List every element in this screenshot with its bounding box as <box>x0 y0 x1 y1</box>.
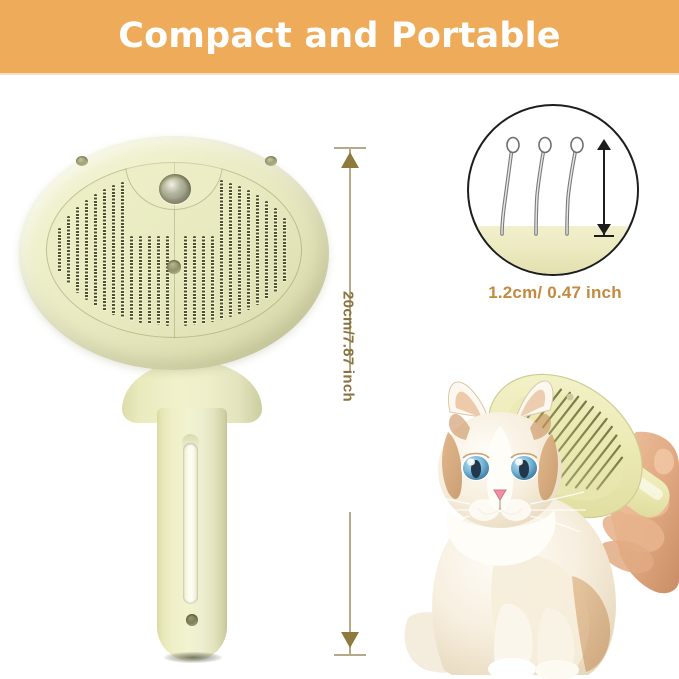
bristle-row <box>265 201 268 299</box>
product-illustration: DC-5V <box>14 118 334 663</box>
power-button[interactable] <box>159 174 191 204</box>
bristle-row <box>247 190 250 310</box>
pin-dimension-label: 1.2cm/ 0.47 inch <box>455 283 655 303</box>
bristle-row <box>220 180 223 320</box>
pin-detail-inset <box>467 104 639 276</box>
bristle-row <box>121 182 124 318</box>
cat-photo-artwork <box>400 370 679 679</box>
bristle-row <box>274 208 277 291</box>
page-title: Compact and Portable <box>118 19 560 54</box>
bristle-row <box>193 236 196 325</box>
bristle-row <box>202 236 205 324</box>
bristle-row <box>283 218 286 282</box>
bristle-row <box>112 185 115 314</box>
bristle-row <box>256 195 259 305</box>
bristle-row <box>85 200 88 301</box>
handle-slot <box>183 443 198 604</box>
bristle-row <box>157 236 160 325</box>
banner-divider <box>0 73 679 75</box>
bristle-row <box>67 216 70 285</box>
arrow-up-icon <box>597 139 611 150</box>
bristle-row <box>211 236 214 322</box>
overall-dimension-label: 20cm/7.87 inch <box>340 277 357 417</box>
pin-dimension-line <box>603 143 605 235</box>
bristle-row <box>94 194 97 306</box>
bristle-pin-icon <box>499 138 523 236</box>
bristle-row <box>238 186 241 314</box>
bristle-row <box>184 236 187 326</box>
bristle-pin-icon <box>562 138 586 236</box>
arrow-up-icon <box>341 152 359 168</box>
bristle-row <box>148 236 151 324</box>
bristle-row <box>58 228 61 271</box>
pin-dimension-indicator <box>593 139 615 239</box>
bristle-row <box>76 207 79 294</box>
overall-dimension-indicator: 20cm/7.87 inch <box>330 140 370 663</box>
center-hole <box>167 260 181 274</box>
bristle-pin-icon <box>531 138 555 236</box>
power-button-lens <box>164 179 186 199</box>
bristle-row <box>139 236 142 323</box>
bristle-row <box>103 189 106 311</box>
pin-dimension-cap <box>594 235 614 237</box>
bristle-row <box>166 236 169 326</box>
cat-grooming-photo <box>400 370 679 679</box>
bristle-row <box>130 236 133 321</box>
inset-circle-frame <box>467 104 639 276</box>
bristle-row <box>229 183 232 318</box>
brush-head <box>19 136 329 370</box>
handle-hole <box>186 614 198 626</box>
header-banner: Compact and Portable <box>0 0 679 73</box>
arrow-down-icon <box>597 224 611 235</box>
handle-drop-shadow <box>164 652 222 663</box>
arrow-down-icon <box>341 632 359 648</box>
